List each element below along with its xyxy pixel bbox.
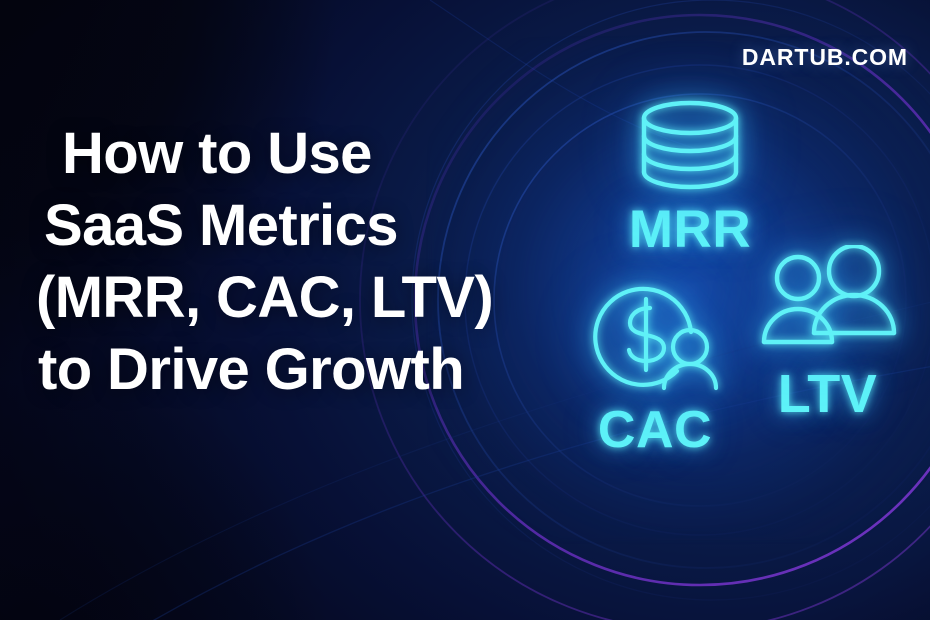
metrics-cluster: MRR CAC bbox=[430, 40, 930, 540]
banner-canvas: DARTUB.COM How to Use SaaS Metrics (MRR,… bbox=[0, 0, 930, 620]
metric-ltv-label: LTV bbox=[740, 367, 915, 421]
metric-cac-label: CAC bbox=[560, 404, 750, 456]
database-icon bbox=[610, 100, 770, 195]
dollar-customer-icon bbox=[560, 275, 750, 400]
metric-ltv: LTV bbox=[740, 245, 915, 421]
metric-mrr: MRR bbox=[610, 100, 770, 256]
users-icon bbox=[740, 245, 915, 365]
metric-cac: CAC bbox=[560, 275, 750, 456]
